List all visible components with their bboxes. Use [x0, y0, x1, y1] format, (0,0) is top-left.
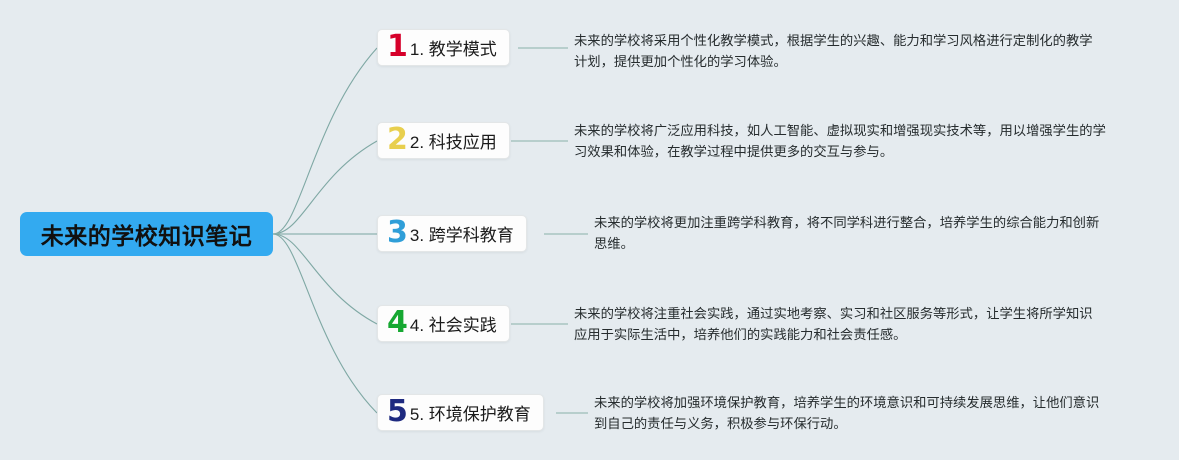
branch-label-1: 1. 教学模式 — [410, 35, 497, 60]
branch-label-4: 4. 社会实践 — [410, 311, 497, 336]
branch-description-2: 未来的学校将广泛应用科技，如人工智能、虚拟现实和增强现实技术等，用以增强学生的学… — [574, 120, 1116, 162]
root-node[interactable]: 未来的学校知识笔记 — [20, 212, 273, 256]
mindmap-canvas: 未来的学校知识笔记 1 1. 教学模式 未来的学校将采用个性化教学模式，根据学生… — [0, 0, 1179, 460]
branch-numeral-1: 1 — [387, 32, 408, 62]
branch-node-3[interactable]: 3 3. 跨学科教育 — [377, 215, 527, 252]
branch-description-1: 未来的学校将采用个性化教学模式，根据学生的兴趣、能力和学习风格进行定制化的教学计… — [574, 30, 1104, 72]
branch-node-4[interactable]: 4 4. 社会实践 — [377, 305, 510, 342]
connector-root-to-branch-5 — [273, 234, 377, 413]
branch-label-3: 3. 跨学科教育 — [410, 221, 514, 246]
branch-node-5[interactable]: 5 5. 环境保护教育 — [377, 394, 544, 431]
branch-numeral-5: 5 — [387, 397, 408, 427]
branch-node-1[interactable]: 1 1. 教学模式 — [377, 29, 510, 66]
connector-root-to-branch-2 — [273, 141, 377, 234]
branch-description-5: 未来的学校将加强环境保护教育，培养学生的环境意识和可持续发展思维，让他们意识到自… — [594, 392, 1106, 434]
branch-description-4: 未来的学校将注重社会实践，通过实地考察、实习和社区服务等形式，让学生将所学知识应… — [574, 303, 1102, 345]
connector-root-to-branch-4 — [273, 234, 377, 324]
branch-numeral-3: 3 — [387, 218, 408, 248]
branch-numeral-4: 4 — [387, 308, 408, 338]
branch-node-2[interactable]: 2 2. 科技应用 — [377, 122, 510, 159]
branch-description-3: 未来的学校将更加注重跨学科教育，将不同学科进行整合，培养学生的综合能力和创新思维… — [594, 212, 1106, 254]
branch-label-2: 2. 科技应用 — [410, 128, 497, 153]
branch-label-5: 5. 环境保护教育 — [410, 400, 531, 425]
branch-numeral-2: 2 — [387, 125, 408, 155]
root-node-label: 未来的学校知识笔记 — [41, 217, 253, 251]
connector-root-to-branch-1 — [273, 48, 377, 234]
